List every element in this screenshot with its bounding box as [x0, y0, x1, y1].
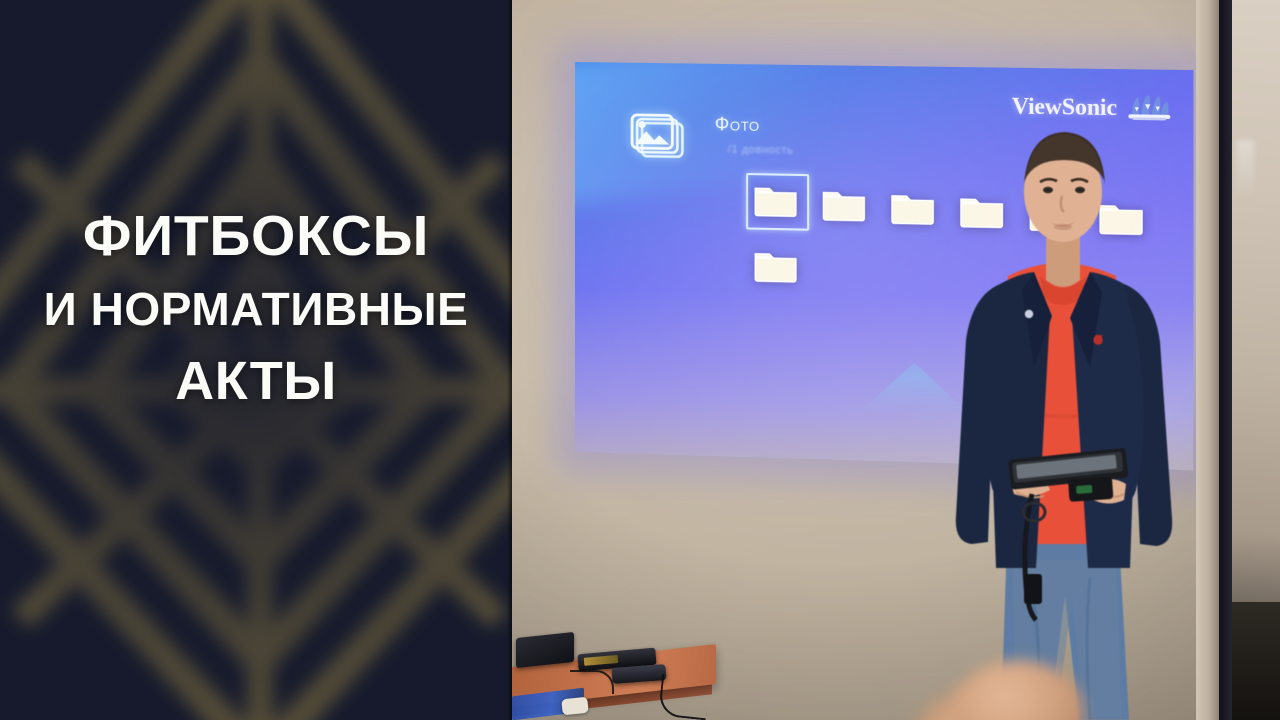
- router-device: [516, 632, 574, 668]
- presentation-photo: ViewSonic: [512, 0, 1280, 720]
- white-adapter: [561, 697, 589, 716]
- title-line-2: И НОРМАТИВНЫЕ: [0, 286, 512, 354]
- door-frame: [1196, 0, 1280, 720]
- door-mullion: [1219, 0, 1232, 720]
- door-glass-reflection: [1236, 140, 1254, 200]
- page-title: ФИТБОКСЫ И НОРМАТИВНЫЕ АКТЫ: [0, 208, 512, 408]
- title-line-3: АКТЫ: [0, 354, 512, 408]
- screenshot-root: ViewSonic: [0, 0, 1280, 720]
- equipment-table: [512, 628, 752, 720]
- remote-buttons: [584, 655, 619, 666]
- presenter-figure: [912, 108, 1212, 720]
- cable-bundle: [658, 674, 710, 720]
- door-jamb: [1196, 0, 1219, 720]
- door-lower-panel: [1232, 602, 1280, 720]
- title-panel: ФИТБОКСЫ И НОРМАТИВНЫЕ АКТЫ: [0, 0, 512, 720]
- title-line-1: ФИТБОКСЫ: [0, 208, 512, 286]
